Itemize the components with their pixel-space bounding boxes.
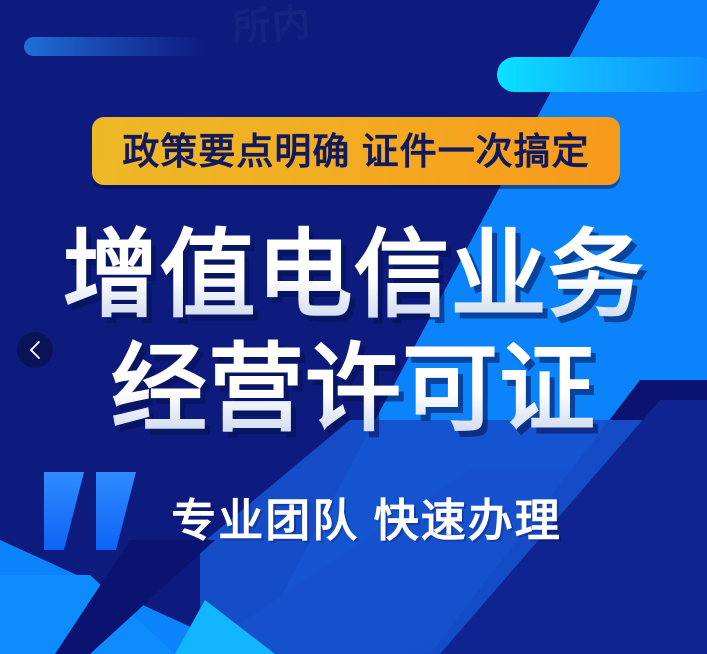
- promo-banner: 所内 政策要点明确 证件一次搞定 增值电信业务 经营许可证 专业团队 快速办理: [0, 0, 707, 654]
- bg-stripe-navy-bottom-left: [55, 540, 215, 654]
- decorative-pill-left: [24, 37, 204, 56]
- chevron-left-icon: [28, 340, 42, 360]
- headline-line-1: 增值电信业务: [0, 222, 707, 330]
- bg-triangle-bottom-left-2: [0, 575, 175, 654]
- headline-line-2: 经营许可证: [0, 336, 707, 444]
- bg-triangle-bottom-left: [0, 540, 250, 654]
- highlight-badge-label: 政策要点明确 证件一次搞定: [122, 133, 589, 170]
- highlight-badge: 政策要点明确 证件一次搞定: [92, 117, 620, 185]
- back-button[interactable]: [17, 332, 53, 368]
- decorative-pill-right: [497, 57, 707, 92]
- subtitle-label: 专业团队 快速办理: [171, 495, 562, 546]
- bg-sliver-cyan-bottom: [175, 600, 275, 654]
- subtitle-block: 专业团队 快速办理: [0, 498, 707, 543]
- watermark-text: 所内: [230, 0, 314, 52]
- headline-block: 增值电信业务 经营许可证: [0, 222, 707, 443]
